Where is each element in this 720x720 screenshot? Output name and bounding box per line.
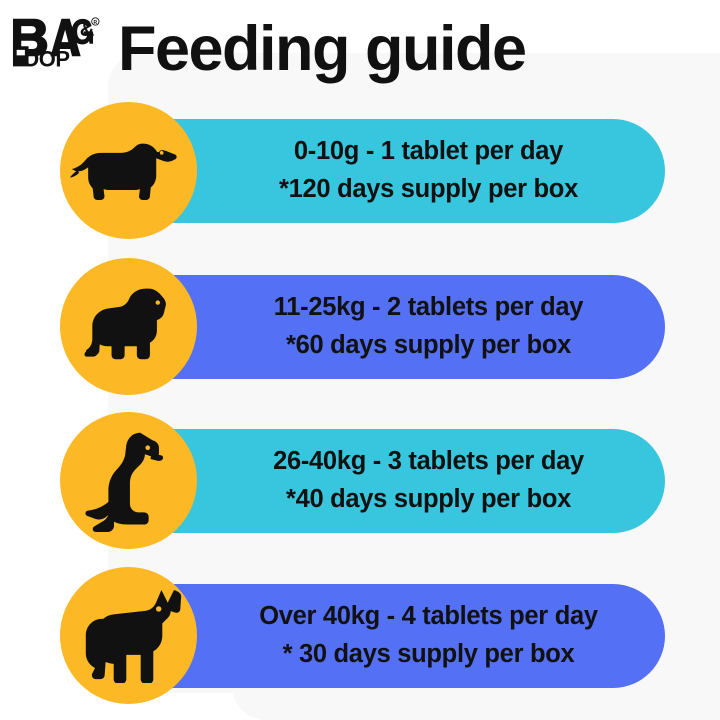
dosage-text: 11-25kg - 2 tablets per day *60 days sup…: [120, 289, 665, 364]
dog-badge: [60, 567, 197, 704]
dosage-pill: Over 40kg - 4 tablets per day * 30 days …: [120, 584, 665, 688]
feeding-row: 26-40kg - 3 tablets per day *40 days sup…: [0, 412, 720, 562]
dosage-line-primary: Over 40kg - 4 tablets per day: [192, 598, 665, 636]
feeding-row: 11-25kg - 2 tablets per day *60 days sup…: [0, 258, 720, 408]
dosage-line-primary: 0-10g - 1 tablet per day: [192, 133, 665, 171]
dosage-pill: 26-40kg - 3 tablets per day *40 days sup…: [120, 429, 665, 533]
bag-and-boop-logo: & R OOP: [10, 16, 102, 70]
svg-text:OOP: OOP: [22, 46, 69, 70]
husky-dog-icon: [75, 588, 183, 683]
dosage-line-secondary: *120 days supply per box: [192, 171, 665, 209]
retriever-dog-icon: [82, 429, 176, 532]
dosage-text: 26-40kg - 3 tablets per day *40 days sup…: [120, 443, 665, 518]
page-title: Feeding guide: [118, 16, 698, 82]
svg-text:R: R: [94, 20, 98, 26]
dosage-line-primary: 26-40kg - 3 tablets per day: [192, 443, 665, 481]
feeding-row: Over 40kg - 4 tablets per day * 30 days …: [0, 567, 720, 717]
bulldog-dog-icon: [81, 283, 177, 371]
dog-badge: [60, 102, 197, 239]
feeding-guide-infographic: & R OOP Feeding guide 0-10g - 1 tablet p…: [0, 0, 720, 720]
dachshund-dog-icon: [70, 130, 188, 212]
dosage-line-primary: 11-25kg - 2 tablets per day: [192, 289, 665, 327]
dog-badge: [60, 412, 197, 549]
dosage-line-secondary: *40 days supply per box: [192, 481, 665, 519]
dosage-pill: 11-25kg - 2 tablets per day *60 days sup…: [120, 275, 665, 379]
dosage-text: 0-10g - 1 tablet per day *120 days suppl…: [120, 133, 665, 208]
dosage-text: Over 40kg - 4 tablets per day * 30 days …: [120, 598, 665, 673]
feeding-row: 0-10g - 1 tablet per day *120 days suppl…: [0, 102, 720, 252]
dosage-pill: 0-10g - 1 tablet per day *120 days suppl…: [120, 119, 665, 223]
dosage-line-secondary: * 30 days supply per box: [192, 636, 665, 674]
dog-badge: [60, 258, 197, 395]
dosage-line-secondary: *60 days supply per box: [192, 327, 665, 365]
